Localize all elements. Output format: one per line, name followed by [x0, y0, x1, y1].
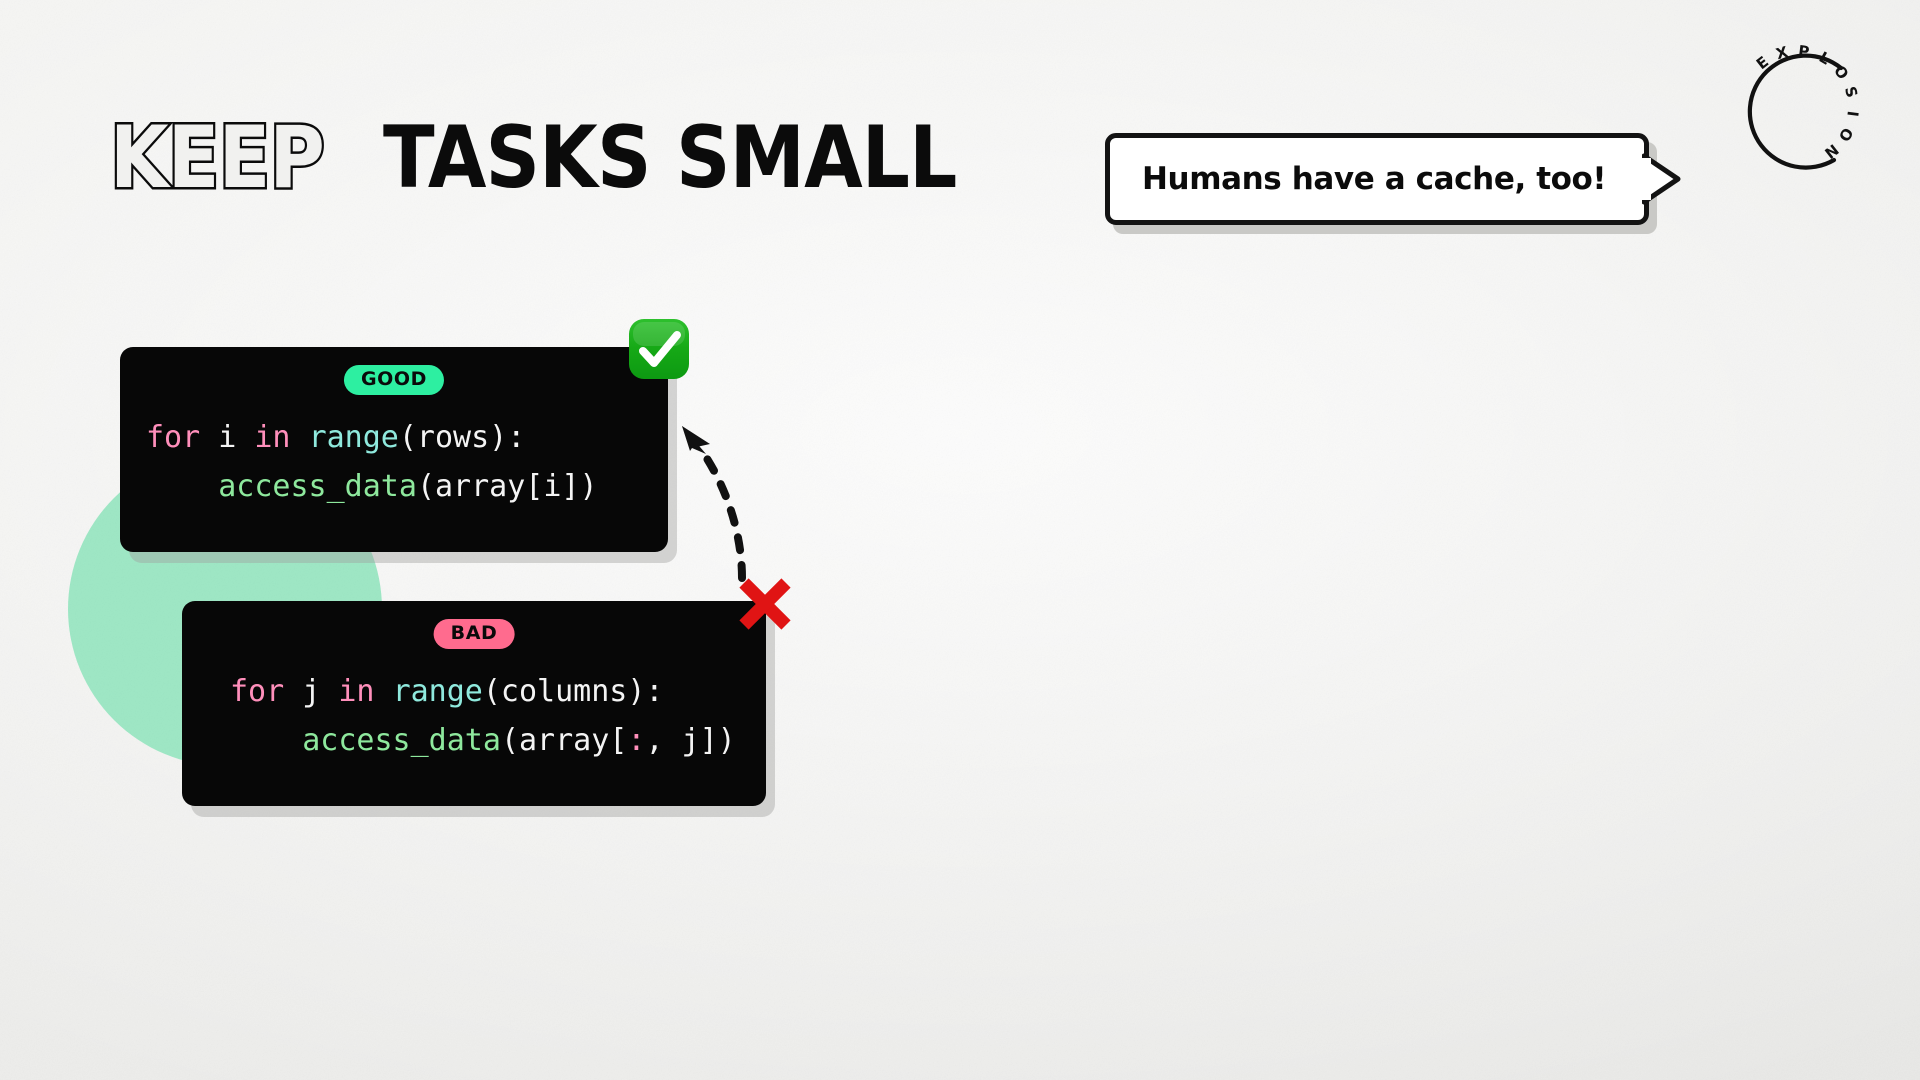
speech-bubble-body: Humans have a cache, too!	[1105, 133, 1649, 225]
code-snippet-bad: for j in range(columns): access_data(arr…	[182, 667, 766, 765]
page-title: KEEP TASKS SMALL	[110, 118, 1035, 200]
explosion-logo-letters: EXPLOSION	[1753, 42, 1862, 162]
code-token: (columns):	[483, 674, 664, 709]
speech-bubble-tail-icon	[1642, 152, 1684, 206]
code-token: (rows):	[399, 420, 525, 455]
badge-good: GOOD	[344, 365, 444, 395]
code-token: range	[309, 420, 399, 455]
code-token	[284, 674, 302, 709]
code-card-bad: BAD for j in range(columns): access_data…	[182, 601, 766, 806]
white-check-mark-icon	[628, 318, 692, 382]
code-token	[291, 420, 309, 455]
code-token: for	[230, 674, 284, 709]
code-token	[146, 469, 218, 504]
code-token: j	[302, 674, 320, 709]
speech-bubble-text: Humans have a cache, too!	[1142, 161, 1606, 197]
code-token: (array[i])	[417, 469, 598, 504]
code-token: , j])	[645, 723, 735, 758]
logo-letter: N	[1821, 140, 1842, 162]
flow-arrow-icon	[676, 418, 786, 588]
code-token: in	[338, 674, 374, 709]
logo-letter: S	[1841, 84, 1861, 99]
code-token	[236, 420, 254, 455]
code-token: in	[254, 420, 290, 455]
logo-letter: X	[1774, 43, 1790, 64]
cross-mark-icon	[734, 575, 796, 637]
code-token: i	[218, 420, 236, 455]
code-card-good: GOOD for i in range(rows): access_data(a…	[120, 347, 668, 552]
code-token: for	[146, 420, 200, 455]
logo-letter: L	[1816, 48, 1834, 69]
code-token	[375, 674, 393, 709]
logo-letter: P	[1797, 42, 1810, 61]
title-word-solid: TASKS SMALL	[383, 118, 956, 200]
code-token	[230, 723, 302, 758]
code-token: access_data	[302, 723, 501, 758]
title-word-outlined: KEEP	[110, 118, 324, 200]
logo-letter: I	[1843, 110, 1862, 118]
code-snippet-good: for i in range(rows): access_data(array[…	[120, 413, 668, 511]
explosion-logo: EXPLOSION	[1722, 32, 1872, 182]
code-token: (array[	[501, 723, 627, 758]
speech-bubble: Humans have a cache, too!	[1105, 133, 1649, 225]
code-token: access_data	[218, 469, 417, 504]
code-token	[200, 420, 218, 455]
code-token	[320, 674, 338, 709]
badge-bad: BAD	[434, 619, 515, 649]
logo-letter: O	[1835, 125, 1857, 145]
code-token: range	[393, 674, 483, 709]
code-token: :	[627, 723, 645, 758]
